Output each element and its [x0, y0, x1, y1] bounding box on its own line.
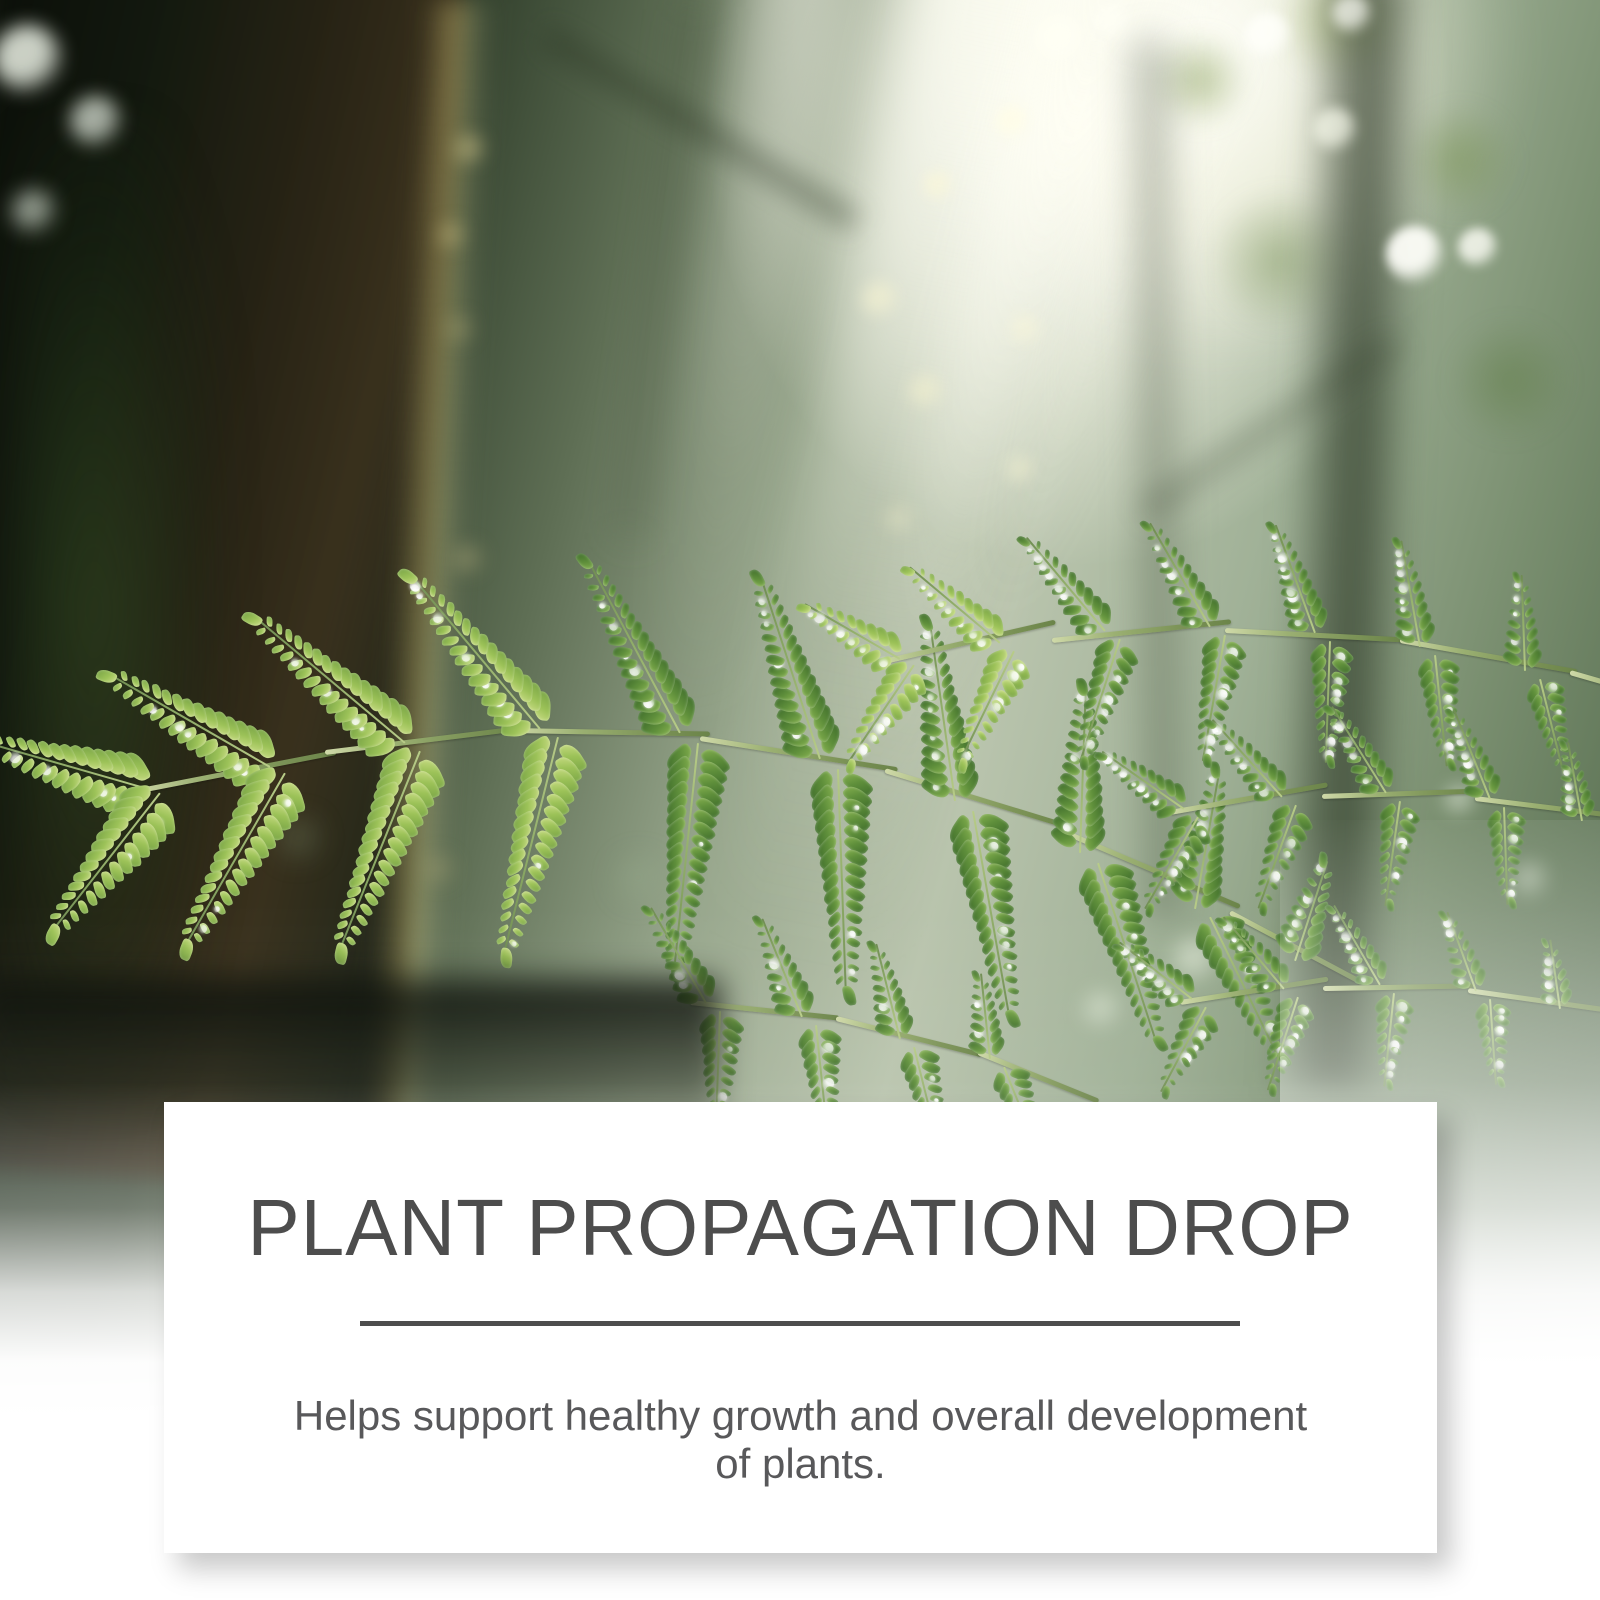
fern-leaflet — [285, 630, 293, 643]
fern-leaflet — [976, 730, 987, 743]
fern-leaflet — [423, 607, 436, 615]
fern-leaflet — [436, 626, 452, 635]
fern-leaflet — [1157, 529, 1164, 538]
fern-leaflet — [1139, 518, 1154, 534]
fern-leaflet — [152, 684, 162, 700]
fern-leaflet — [1036, 542, 1042, 550]
fern-pinna — [588, 560, 681, 733]
fern-leaflet — [16, 737, 29, 753]
fern-leaflet — [95, 667, 118, 686]
fern-leaflet — [322, 654, 333, 673]
fern-leaflet — [141, 680, 150, 694]
fern-leaflet — [588, 583, 599, 590]
fern-leaflet — [899, 564, 916, 579]
fern-leaflet — [1081, 709, 1095, 720]
fern-pinna — [909, 566, 1001, 643]
fern-leaflet — [1044, 549, 1051, 559]
fern-leaflet — [761, 632, 778, 645]
fern-pinna — [958, 651, 1015, 765]
fern-leaflet — [68, 881, 84, 890]
fern-leaflet — [112, 683, 123, 692]
fern-leaflet — [199, 882, 217, 894]
fern-leaflet — [753, 589, 763, 597]
text-card: PLANT PROPAGATION DROP Helps support hea… — [164, 1102, 1437, 1553]
fern-leaflet — [612, 645, 633, 659]
fern-leaflet — [37, 739, 53, 759]
fern-leaflet — [437, 594, 446, 608]
fern-leaflet — [929, 575, 935, 585]
fern-leaflet — [303, 642, 312, 658]
fern-leaflet — [748, 567, 767, 589]
fern-leaflet — [861, 716, 875, 725]
fern-leaflet — [1080, 721, 1092, 730]
fern-leaflet — [1083, 697, 1099, 710]
dew-drop — [854, 805, 859, 810]
page-subtitle: Helps support healthy growth and overall… — [284, 1392, 1317, 1488]
fern-pinna — [255, 617, 406, 744]
fern-pinna — [760, 578, 821, 759]
fern-leaflet — [963, 726, 975, 735]
fern-pinna — [411, 575, 541, 729]
fern-leaflet — [1522, 596, 1532, 606]
fern-leaflet — [1051, 557, 1059, 569]
fern-leaflet — [969, 704, 985, 715]
fern-leaflet — [1169, 546, 1179, 558]
fern-leaflet — [5, 735, 16, 749]
fern-pinna — [0, 741, 148, 790]
fern-leaflet — [595, 565, 604, 576]
fern-leaflet — [956, 591, 965, 606]
fern-leaflet — [1391, 535, 1403, 550]
fern-leaflet — [964, 597, 974, 614]
fern-leaflet — [912, 577, 921, 583]
fern-leaflet — [1163, 538, 1171, 549]
fern-leaflet — [131, 676, 139, 688]
fern-leaflet — [966, 715, 980, 725]
fern-leaflet — [1148, 536, 1156, 541]
fern-leaflet — [973, 603, 984, 622]
fern-pinna — [1149, 523, 1211, 628]
fern-leaflet — [264, 636, 277, 645]
fern-leaflet — [429, 586, 438, 598]
fern-leaflet — [79, 860, 99, 872]
fern-leaflet — [73, 871, 91, 881]
fern-leaflet — [331, 661, 343, 681]
fern-leaflet — [947, 586, 954, 599]
fern-leaflet — [847, 748, 855, 753]
dew-drop — [1396, 569, 1405, 578]
fern-leaflet — [584, 573, 594, 579]
fern-leaflet — [240, 609, 263, 630]
fern-leaflet — [256, 628, 267, 636]
fern-leaflet — [1079, 755, 1090, 771]
fern-leaflet — [1113, 752, 1117, 759]
page-title: PLANT PROPAGATION DROP — [177, 1188, 1425, 1268]
fern-leaflet — [920, 569, 925, 577]
title-divider — [360, 1321, 1240, 1326]
fern-leaflet — [345, 885, 362, 898]
dew-drop — [1395, 549, 1404, 558]
fern-leaflet — [266, 617, 272, 627]
fern-leaflet — [0, 734, 4, 746]
fern-leaflet — [1059, 564, 1068, 578]
dew-drop — [1093, 729, 1100, 736]
fern-leaflet — [421, 578, 429, 589]
fern-leaflet — [276, 623, 283, 635]
fern-leaflet — [765, 584, 775, 595]
fern-leaflet — [1280, 532, 1287, 540]
fern-leaflet — [442, 636, 459, 646]
fern-leaflet — [203, 870, 222, 883]
fern-leaflet — [121, 671, 128, 682]
fern-leaflet — [1403, 550, 1411, 558]
fern-leaflet — [856, 726, 868, 734]
fern-leaflet — [1522, 585, 1530, 593]
promo-card-canvas: PLANT PROPAGATION DROP Helps support hea… — [0, 0, 1600, 1600]
fern-leaflet — [313, 648, 323, 665]
fern-leaflet — [121, 689, 134, 700]
fern-leaflet — [1512, 570, 1521, 583]
fern-leaflet — [574, 550, 594, 572]
fern-pinna — [1079, 639, 1121, 763]
fern-leaflet — [1284, 541, 1293, 551]
fern-leaflet — [865, 705, 881, 715]
fern-pinna — [1026, 537, 1106, 632]
fern-leaflet — [826, 607, 833, 618]
dew-drop — [1513, 595, 1520, 602]
fern-leaflet — [852, 737, 862, 743]
dew-drop — [1513, 611, 1518, 616]
fern-leaflet — [172, 693, 185, 712]
dew-drop — [853, 826, 859, 832]
fern-leaflet — [971, 740, 980, 751]
fern-leaflet — [601, 574, 611, 586]
fern-pinna — [1275, 525, 1316, 634]
fern-leaflet — [608, 635, 627, 648]
text-card-content: PLANT PROPAGATION DROP Helps support hea… — [164, 1102, 1437, 1553]
fern-leaflet — [1406, 560, 1416, 570]
fern-leaflet — [960, 737, 970, 744]
fern-leaflet — [1076, 745, 1085, 752]
fern-leaflet — [938, 580, 944, 591]
fern-leaflet — [294, 636, 302, 650]
